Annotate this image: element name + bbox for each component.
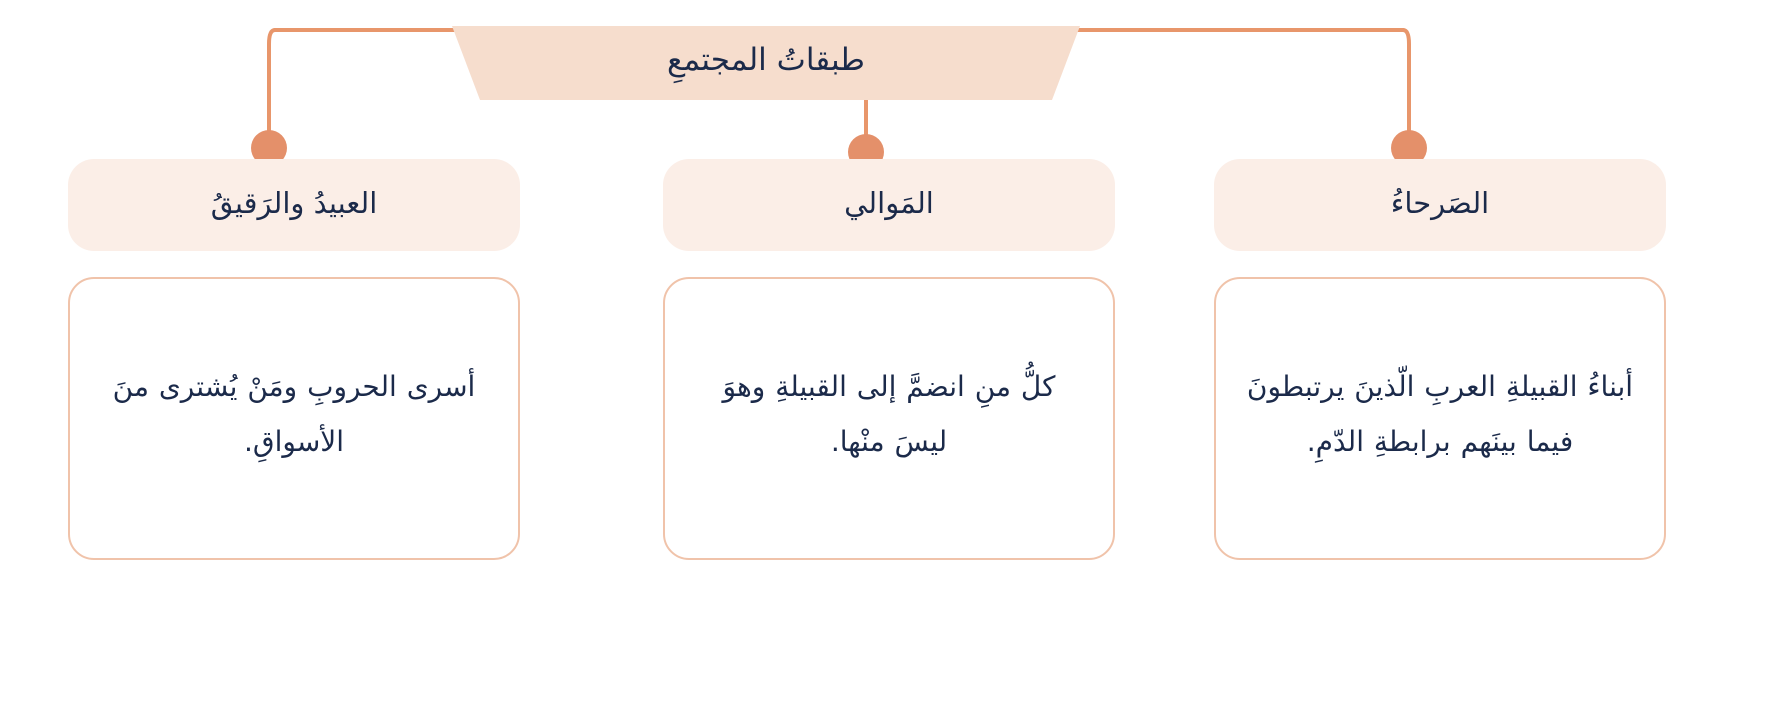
branch-column-abeed: العبيدُ والرَقيقُ أسرى الحروبِ ومَنْ يُش… — [68, 159, 520, 560]
branch-label-mawali: المَوالي — [844, 186, 934, 224]
diagram-title: طبقاتُ المجتمعِ — [452, 26, 1080, 100]
branch-column-sarhaa: الصَرحاءُ أبناءُ القبيلةِ العربِ الّذينَ… — [1214, 159, 1666, 560]
connector-branch-right — [1403, 30, 1409, 140]
branch-card-mawali: كلُّ منِ انضمَّ إلى القبيلةِ وهوَ ليسَ م… — [663, 277, 1115, 560]
branch-description-abeed: أسرى الحروبِ ومَنْ يُشترى منَ الأسواقِ. — [100, 360, 488, 469]
branch-column-mawali: المَوالي كلُّ منِ انضمَّ إلى القبيلةِ وه… — [663, 159, 1115, 560]
branch-label-abeed: العبيدُ والرَقيقُ — [211, 186, 378, 224]
branch-description-mawali: كلُّ منِ انضمَّ إلى القبيلةِ وهوَ ليسَ م… — [695, 360, 1083, 469]
society-classes-diagram: طبقاتُ المجتمعِ الصَرحاءُ أبناءُ القبيلة… — [0, 0, 1778, 702]
branch-card-abeed: أسرى الحروبِ ومَنْ يُشترى منَ الأسواقِ. — [68, 277, 520, 560]
branch-description-sarhaa: أبناءُ القبيلةِ العربِ الّذينَ يرتبطونَ … — [1246, 360, 1634, 469]
branch-card-sarhaa: أبناءُ القبيلةِ العربِ الّذينَ يرتبطونَ … — [1214, 277, 1666, 560]
branch-label-pill-abeed[interactable]: العبيدُ والرَقيقُ — [68, 159, 520, 251]
branch-label-pill-mawali[interactable]: المَوالي — [663, 159, 1115, 251]
diagram-title-banner: طبقاتُ المجتمعِ — [452, 26, 1080, 100]
branch-label-sarhaa: الصَرحاءُ — [1391, 186, 1489, 224]
branch-label-pill-sarhaa[interactable]: الصَرحاءُ — [1214, 159, 1666, 251]
connector-branch-left — [269, 30, 275, 140]
